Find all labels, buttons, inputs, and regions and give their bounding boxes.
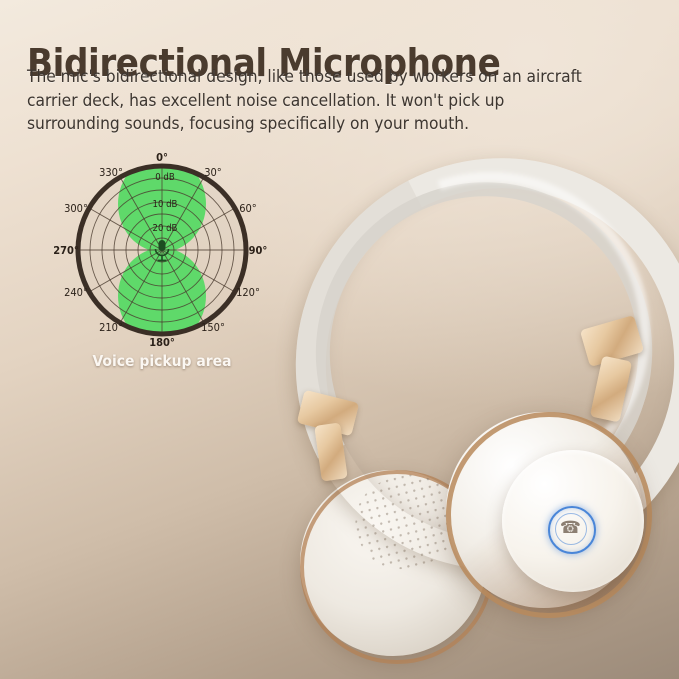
angle-tick-label-30: 30° [204, 166, 222, 179]
mic-mesh-grille-lower [204, 601, 246, 613]
slider-bracket-right-lower [590, 356, 632, 423]
mic-mesh-grille-upper [297, 318, 328, 345]
slider-bracket-left-upper [297, 390, 360, 437]
headband-inner [272, 138, 679, 565]
angle-tick-label-270: 270° [53, 244, 79, 257]
angle-tick-label-150: 150° [201, 321, 225, 334]
mic-capsule-upper [281, 303, 343, 359]
body-line: carrier deck, has excellent noise cancel… [27, 90, 657, 114]
led-indicator-inner-ring [555, 513, 587, 545]
call-icon: ☎ [559, 516, 582, 540]
body-line: The mic's bidirectional design, like tho… [27, 66, 657, 90]
led-indicator-ring [548, 506, 596, 554]
mic-boom-arm-middle [244, 381, 482, 483]
radial-tick-label: 0 dB [155, 172, 175, 183]
earcup-left-gold-ring [300, 470, 494, 664]
slider-bracket-left-lower [314, 422, 348, 481]
polar-plot-svg: 0 dB 10 dB 20 dB 0° 30° 60° 90° 120° 150… [52, 150, 272, 350]
angle-tick-label-180: 180° [149, 336, 175, 349]
product-feature-image: Bidirectional Microphone The mic's bidir… [0, 0, 679, 679]
earcup-right [446, 412, 642, 608]
body-copy: The mic's bidirectional design, like tho… [27, 66, 657, 137]
mic-capsule-middle [207, 445, 279, 497]
mic-boom-hinge [448, 531, 509, 579]
body-line: surrounding sounds, focusing specificall… [27, 113, 657, 137]
chart-caption: Voice pickup area [52, 352, 272, 370]
radial-tick-label: 10 dB [153, 199, 178, 210]
mic-boom-arm-upper [337, 214, 494, 340]
earcup-grille [346, 465, 465, 578]
mic-boom-arm-lower [195, 590, 495, 614]
angle-tick-label-330: 330° [99, 166, 123, 179]
earcup-right-gold-ring [446, 412, 652, 618]
angle-tick-label-210: 210° [99, 321, 123, 334]
headband-highlight [276, 118, 679, 546]
earcup-right-plate [502, 450, 644, 592]
angle-tick-label-90: 90° [249, 244, 268, 257]
angle-tick-label-240: 240° [64, 286, 88, 299]
radial-tick-labels: 0 dB 10 dB 20 dB [153, 172, 178, 234]
mic-capsule-lower [185, 589, 258, 623]
angle-tick-label-120: 120° [236, 286, 260, 299]
angle-tick-label-60: 60° [239, 202, 257, 215]
headband [242, 105, 679, 623]
polar-pattern-chart: 0 dB 10 dB 20 dB 0° 30° 60° 90° 120° 150… [52, 150, 272, 395]
slider-bracket-right-upper [580, 315, 644, 367]
angle-tick-label-0: 0° [156, 151, 168, 164]
angle-tick-label-300: 300° [64, 202, 88, 215]
radial-tick-label: 20 dB [153, 223, 178, 234]
mic-mesh-grille-middle [225, 461, 264, 484]
earcup-left [300, 470, 486, 656]
